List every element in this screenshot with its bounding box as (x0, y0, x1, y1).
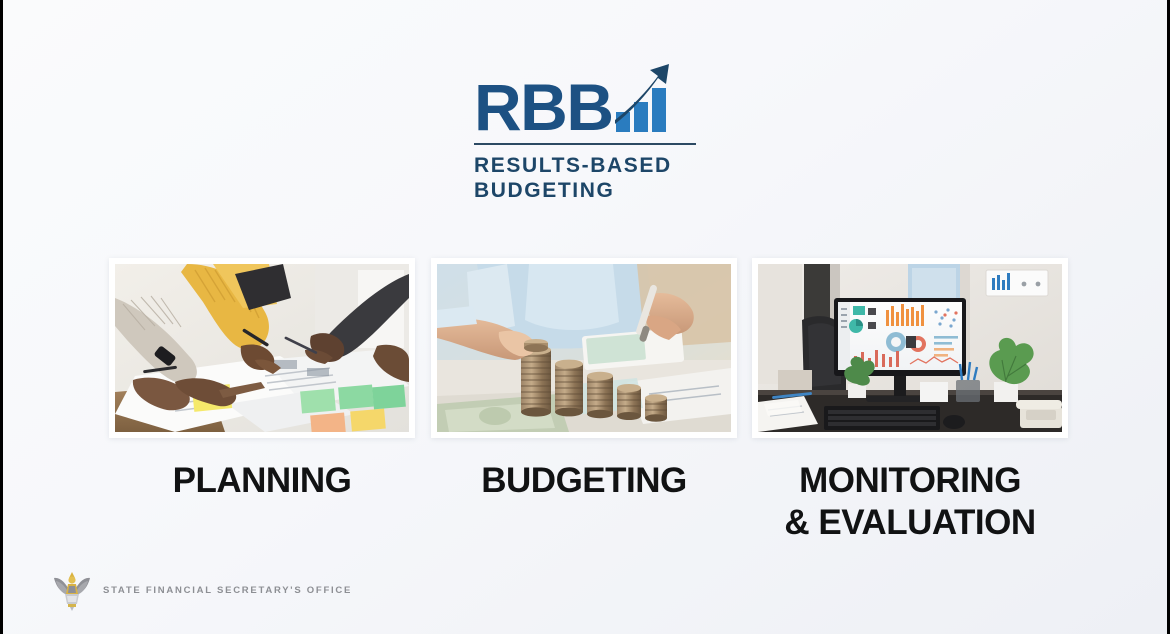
growth-bar-chart-arrow-icon (614, 62, 676, 134)
logo-top-row: RBB (474, 62, 696, 136)
slide-canvas: RBB RESULTS-BASED BUDGETING (0, 0, 1170, 634)
logo-wordmark: RBB (474, 78, 613, 136)
panel-monitoring-caption: MONITORING & EVALUATION (784, 460, 1035, 544)
panel-budgeting[interactable]: BUDGETING (429, 258, 739, 502)
state-crest-emblem (51, 568, 93, 612)
panel-planning[interactable]: PLANNING (107, 258, 417, 502)
panel-budgeting-caption: BUDGETING (481, 460, 687, 502)
rbb-logo: RBB RESULTS-BASED BUDGETING (3, 62, 1167, 203)
panel-monitoring-evaluation[interactable]: MONITORING & EVALUATION (751, 258, 1069, 544)
footer: STATE FINANCIAL SECRETARY'S OFFICE (51, 568, 352, 612)
coin-stacks-budgeting-photo (437, 264, 731, 432)
panel-budgeting-card (431, 258, 737, 438)
panel-row: PLANNING (107, 258, 1073, 544)
footer-label: STATE FINANCIAL SECRETARY'S OFFICE (103, 585, 352, 596)
logo-subtitle: RESULTS-BASED BUDGETING (474, 154, 696, 203)
panel-planning-card (109, 258, 415, 438)
panel-monitoring-card (752, 258, 1068, 438)
desk-dashboard-monitor-photo (758, 264, 1062, 432)
team-planning-documents-photo (115, 264, 409, 432)
panel-planning-caption: PLANNING (173, 460, 352, 502)
